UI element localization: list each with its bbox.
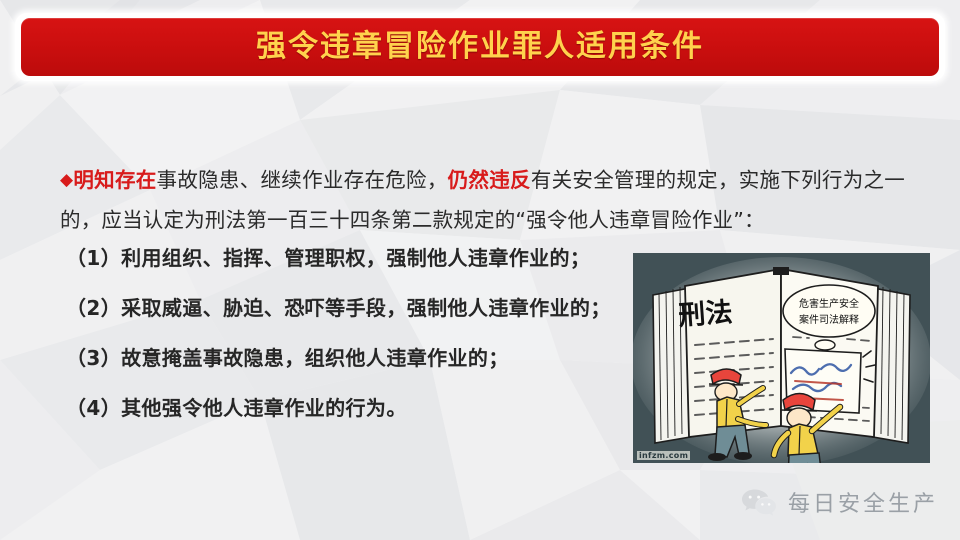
list-item: （1）利用组织、指挥、管理职权，强制他人违章作业的； <box>66 248 646 268</box>
list-item: （4）其他强令他人违章作业的行为。 <box>66 398 646 418</box>
page-title: 强令违章冒险作业罪人适用条件 <box>256 32 704 62</box>
illustration-watermark: infzm.com <box>637 451 690 460</box>
lead-paragraph: ◆明知存在事故隐患、继续作业存在危险，仍然违反有关安全管理的规定，实施下列行为之… <box>60 160 905 240</box>
title-bar-frame: 强令违章冒险作业罪人适用条件 <box>15 13 945 81</box>
lead-segment-1: 事故隐患、继续作业存在危险， <box>157 168 448 192</box>
lead-highlight-2: 仍然违反 <box>448 168 531 192</box>
list-item: （2）采取威逼、胁迫、恐吓等手段，强制他人违章作业的； <box>66 298 646 318</box>
lead-highlight-1: 明知存在 <box>73 168 156 192</box>
slide-canvas: 强令违章冒险作业罪人适用条件 ◆明知存在事故隐患、继续作业存在危险，仍然违反有关… <box>0 0 960 540</box>
svg-text:危害生产安全: 危害生产安全 <box>799 297 859 310</box>
wechat-icon <box>740 487 778 517</box>
brand-footer: 每日安全生产 <box>740 486 938 518</box>
criminal-law-book-illustration: 刑法 危害生产安全 案件司法解释 <box>633 253 930 463</box>
brand-label: 每日安全生产 <box>788 486 938 518</box>
svg-text:刑法: 刑法 <box>677 297 733 332</box>
bullet-diamond-icon: ◆ <box>60 170 73 190</box>
svg-text:案件司法解释: 案件司法解释 <box>799 313 859 326</box>
title-bar: 强令违章冒险作业罪人适用条件 <box>21 18 939 76</box>
illustration-image: 刑法 危害生产安全 案件司法解释 <box>633 253 930 463</box>
list-item: （3）故意掩盖事故隐患，组织他人违章作业的； <box>66 348 646 368</box>
clause-list: （1）利用组织、指挥、管理职权，强制他人违章作业的； （2）采取威逼、胁迫、恐吓… <box>66 248 646 418</box>
